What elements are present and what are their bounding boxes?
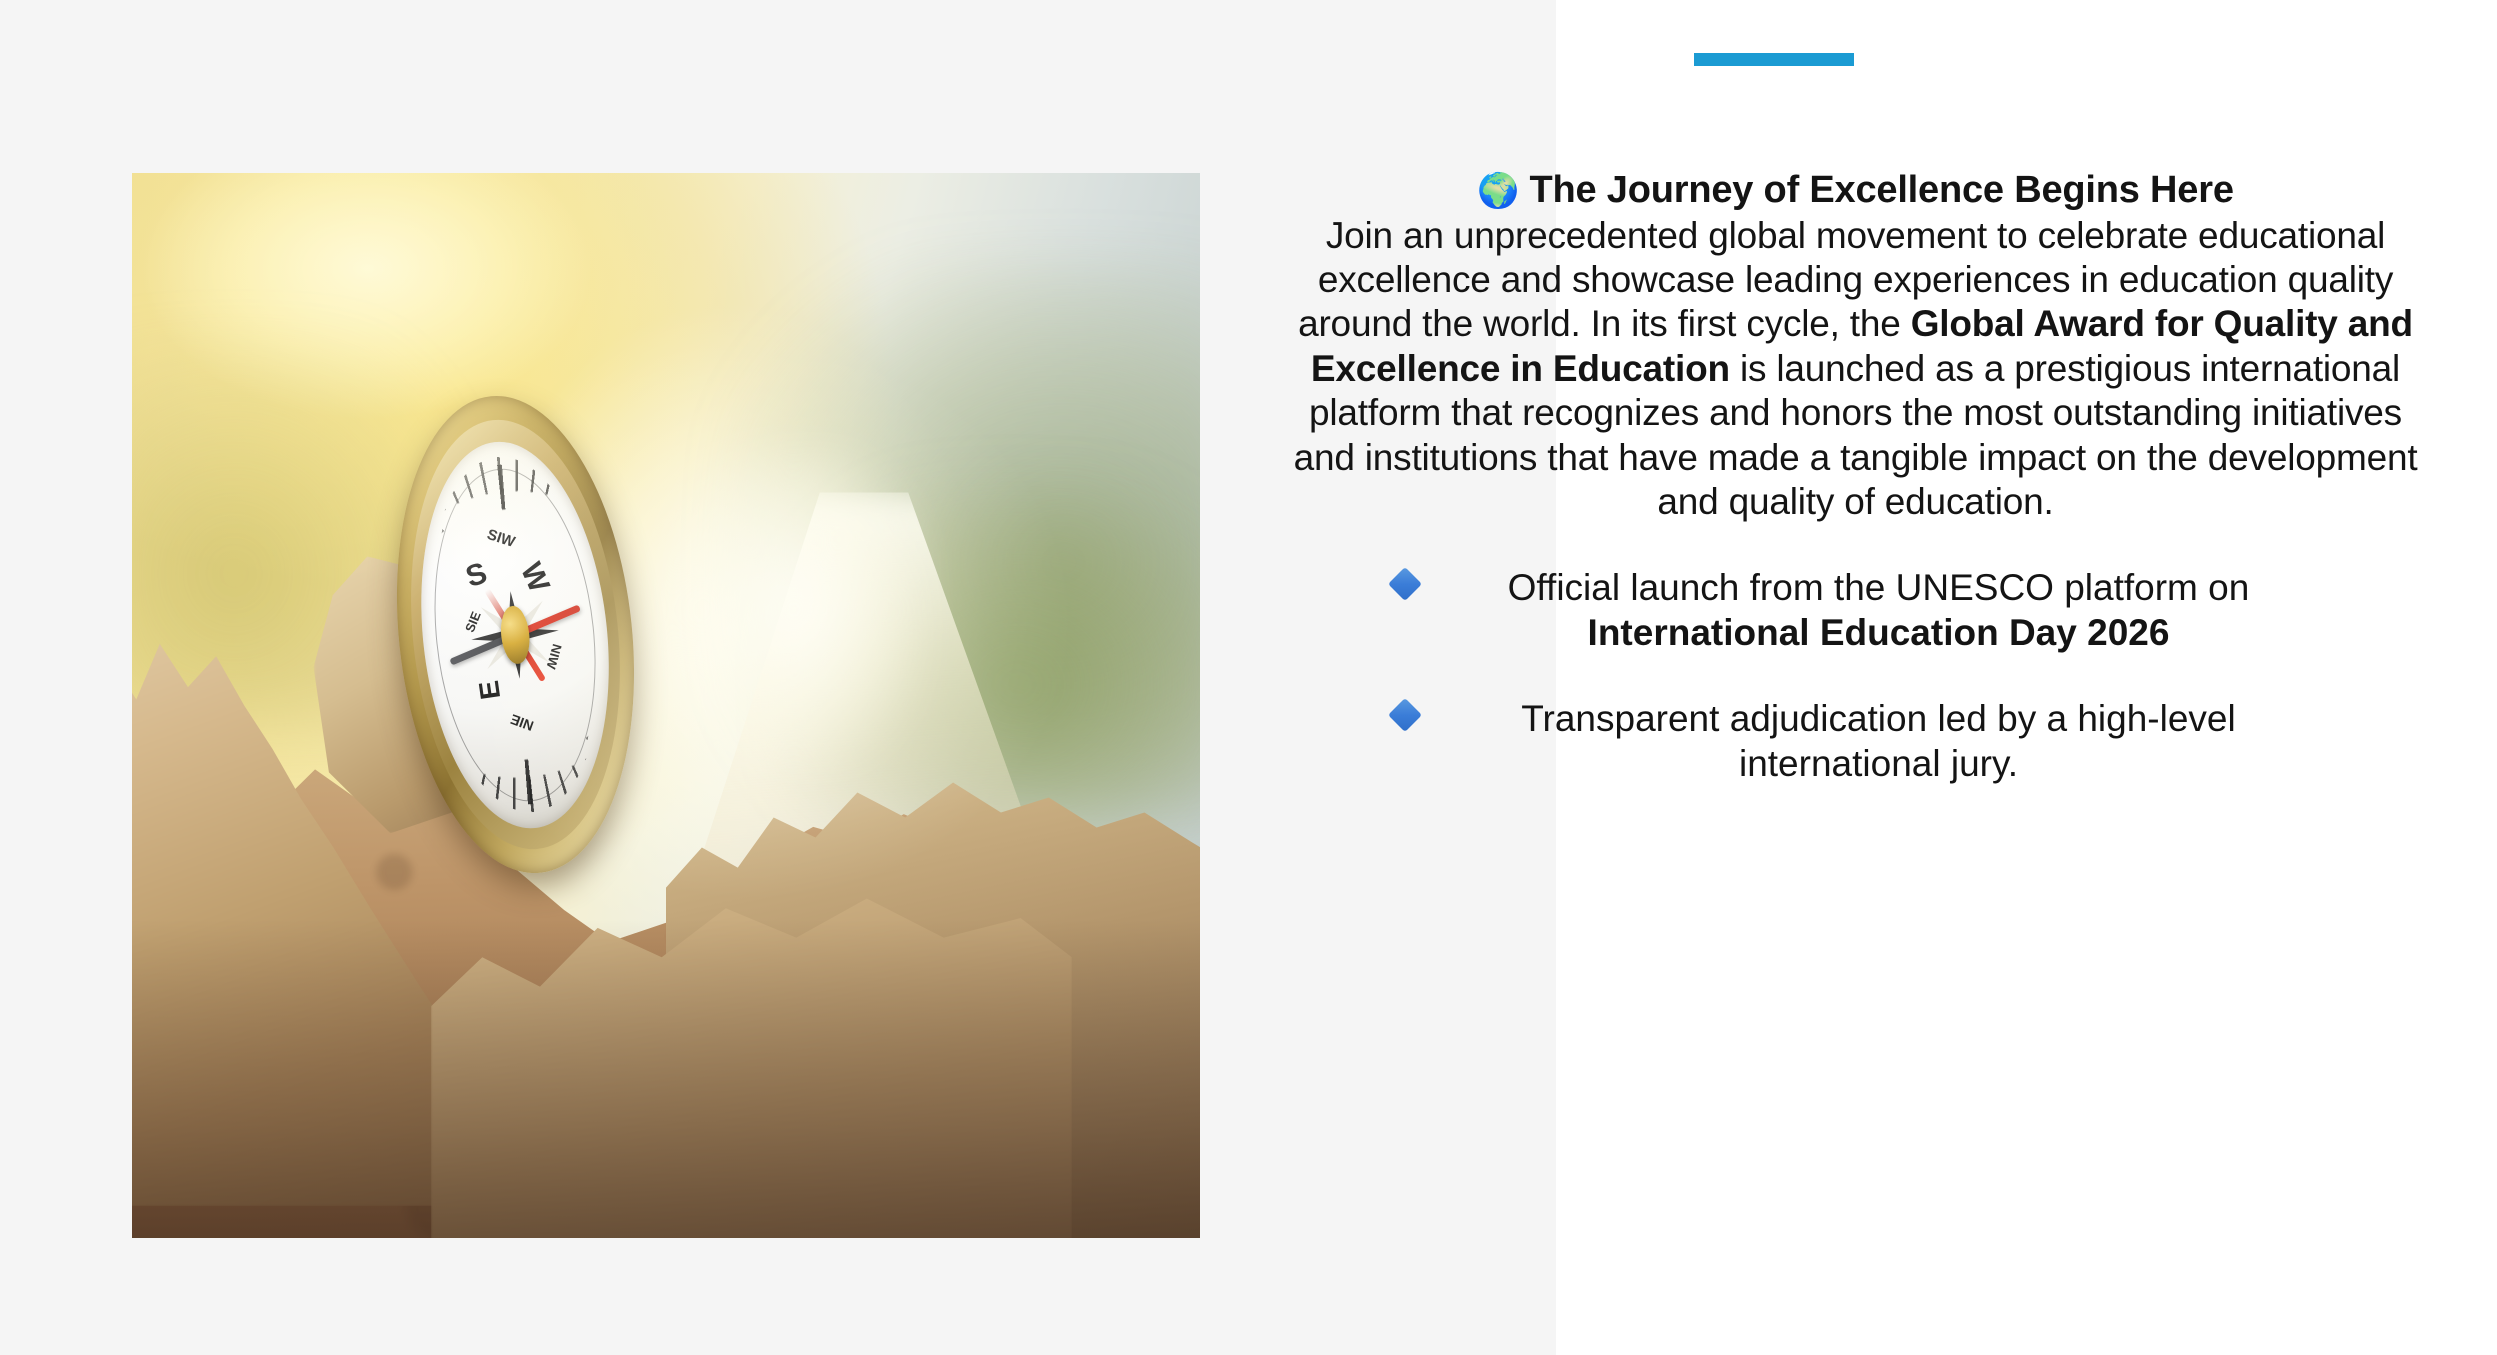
bullet-list: Official launch from the UNESCO platform… xyxy=(1278,566,2433,786)
blue-diamond-icon xyxy=(1393,703,1417,732)
list-item: Official launch from the UNESCO platform… xyxy=(1278,566,2433,655)
list-item-text: Transparent adjudication led by a high-l… xyxy=(1439,697,2319,786)
page-title: The Journey of Excellence Begins Here xyxy=(1529,169,2233,211)
blue-diamond-shape xyxy=(1388,567,1422,601)
hero-image: S W E SIW NIE NIW SIE xyxy=(132,173,1200,1238)
bullet-1-plain: Official launch from the UNESCO platform… xyxy=(1508,567,2250,608)
list-item: Transparent adjudication led by a high-l… xyxy=(1278,697,2433,786)
bullet-2-plain: Transparent adjudication led by a high-l… xyxy=(1521,698,2235,783)
globe-icon: 🌍 xyxy=(1477,172,1519,210)
content-column: 🌍 The Journey of Excellence Begins Here … xyxy=(1278,168,2433,828)
list-item-text: Official launch from the UNESCO platform… xyxy=(1439,566,2319,655)
blue-diamond-icon xyxy=(1393,572,1417,601)
compass-icon: S W E SIW NIE NIW SIE xyxy=(375,384,657,885)
top-accent-bar xyxy=(1694,53,1854,66)
bullet-1-bold: International Education Day 2026 xyxy=(1588,612,2170,653)
photo-sun-glow xyxy=(666,450,922,770)
slide-canvas: S W E SIW NIE NIW SIE xyxy=(0,0,2497,1355)
body-paragraph: 🌍 The Journey of Excellence Begins Here … xyxy=(1278,168,2433,524)
photo-foreground-shadow xyxy=(132,919,1200,1239)
blue-diamond-shape xyxy=(1388,698,1422,732)
